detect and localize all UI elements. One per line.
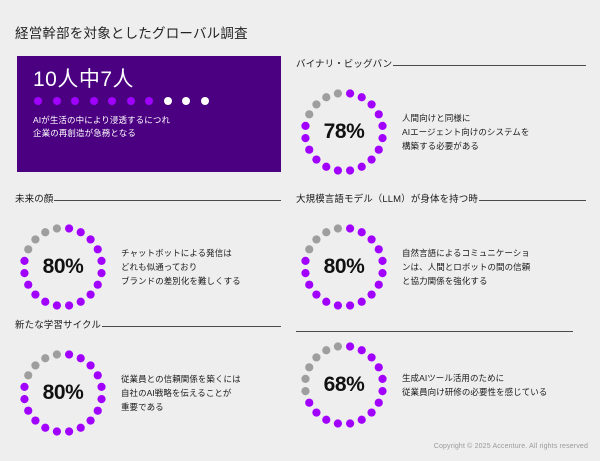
- hero-dot-pictogram: [34, 97, 265, 105]
- section-title: 新たな学習サイクル: [15, 317, 101, 331]
- section-body: 80% 従業員との信頼関係を築くには 自社のAI戦略を伝えることが 重要である: [15, 345, 281, 441]
- section-body: 80% チャットボットによる発信は どれも似通っており ブランドの差別化を難しく…: [15, 219, 281, 315]
- section-rule: [393, 65, 586, 66]
- donut-value-label: 80%: [296, 219, 392, 315]
- section-title: バイナリ・ビッグバン: [296, 56, 392, 70]
- section-title: 未来の顔: [15, 191, 53, 205]
- page-title: 経営幹部を対象としたグローバル調査: [15, 22, 248, 42]
- donut-chart-future-face: 80%: [15, 219, 111, 315]
- hero-dot-filled: [145, 97, 153, 105]
- section-description: チャットボットによる発信は どれも似通っており ブランドの差別化を難しくする: [121, 246, 241, 288]
- donut-value-label: 78%: [296, 84, 392, 180]
- hero-dot-filled: [71, 97, 79, 105]
- copyright-notice: Copyright © 2025 Accenture. All rights r…: [434, 443, 588, 450]
- section-body: 78% 人間向けと同様に AIエージェント向けのシステムを 構築する必要がある: [296, 84, 586, 180]
- hero-dot-filled: [127, 97, 135, 105]
- section-rule: [479, 200, 586, 201]
- donut-value-label: 80%: [15, 345, 111, 441]
- section-body: 80% 自然言語によるコミュニケーショ ンは、人間とロボットの間の信頼 と協力関…: [296, 219, 586, 315]
- hero-stat-value: 10人中7人: [33, 68, 265, 91]
- section-header: 新たな学習サイクル: [15, 317, 281, 331]
- hero-dot-filled: [90, 97, 98, 105]
- section-header: 大規模言語モデル（LLM）が身体を持つ時: [296, 191, 586, 205]
- donut-value-label: 80%: [15, 219, 111, 315]
- hero-dot-filled: [53, 97, 61, 105]
- donut-chart-binary-big-bang: 78%: [296, 84, 392, 180]
- section-llm-embodied: 大規模言語モデル（LLM）が身体を持つ時 80% 自然言語によるコミュニケーショ…: [296, 191, 586, 315]
- hero-caption: AIが生活の中により浸透するにつれ 企業の再創造が急務となる: [33, 114, 265, 140]
- section-training-need: 68% 生成AIツール活用のために 従業員向け研修の必要性を感じている: [296, 337, 586, 433]
- donut-value-label: 68%: [296, 337, 392, 433]
- section-future-face: 未来の顔 80% チャットボットによる発信は どれも似通っており ブランドの差別…: [15, 191, 281, 315]
- section-description: 人間向けと同様に AIエージェント向けのシステムを 構築する必要がある: [402, 111, 529, 153]
- donut-chart-llm-embodied: 80%: [296, 219, 392, 315]
- section-new-learning-cycle: 新たな学習サイクル 80% 従業員との信頼関係を築くには 自社のAI戦略を伝える…: [15, 317, 281, 441]
- donut-chart-new-learning-cycle: 80%: [15, 345, 111, 441]
- section-title: 大規模言語モデル（LLM）が身体を持つ時: [296, 191, 478, 205]
- section-description: 生成AIツール活用のために 従業員向け研修の必要性を感じている: [402, 371, 547, 399]
- hero-dot-empty: [164, 97, 172, 105]
- section-header: バイナリ・ビッグバン: [296, 56, 586, 70]
- section-rule: [54, 200, 281, 201]
- donut-chart-training-need: 68%: [296, 337, 392, 433]
- section-body: 68% 生成AIツール活用のために 従業員向け研修の必要性を感じている: [296, 337, 586, 433]
- hero-dot-empty: [182, 97, 190, 105]
- section-description: 自然言語によるコミュニケーショ ンは、人間とロボットの間の信頼 と協力関係を強化…: [402, 246, 530, 288]
- hero-dot-filled: [34, 97, 42, 105]
- hero-stat-card: 10人中7人 AIが生活の中により浸透するにつれ 企業の再創造が急務となる: [17, 56, 281, 172]
- section-binary-big-bang: バイナリ・ビッグバン 78% 人間向けと同様に AIエージェント向けのシステムを…: [296, 56, 586, 180]
- hero-dot-empty: [201, 97, 209, 105]
- section-rule: [102, 326, 281, 327]
- section-header: 未来の顔: [15, 191, 281, 205]
- section-description: 従業員との信頼関係を築くには 自社のAI戦略を伝えることが 重要である: [121, 372, 241, 414]
- hero-dot-filled: [108, 97, 116, 105]
- section-rule: [296, 331, 573, 332]
